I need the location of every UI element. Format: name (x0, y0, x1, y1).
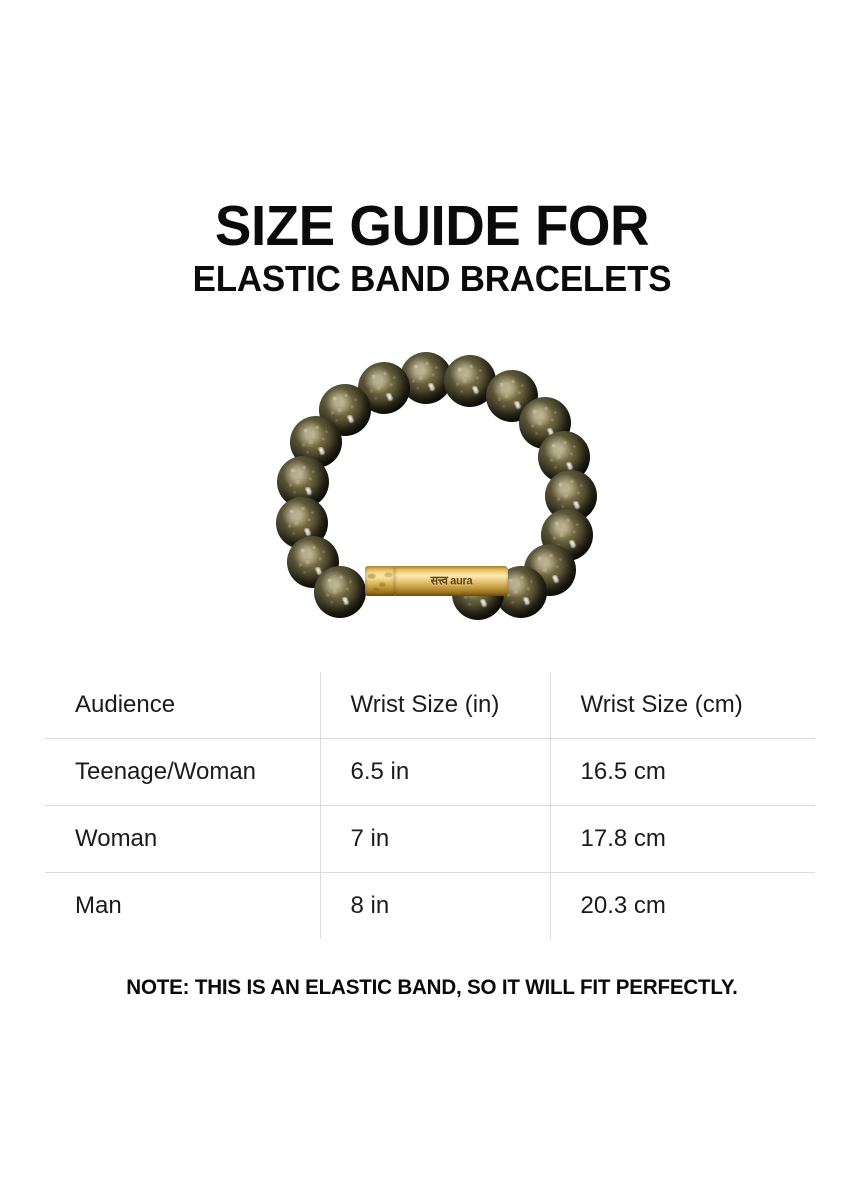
cell-audience: Man (45, 873, 320, 940)
bracelet-clasp-bar: सत्त्व aura (365, 566, 508, 596)
column-header-audience: Audience (45, 672, 320, 739)
note-text: NOTE: THIS IS AN ELASTIC BAND, SO IT WIL… (9, 975, 856, 1001)
cell-wrist-size-cm: 20.3 cm (550, 873, 815, 940)
bracelet-bead (314, 566, 366, 618)
cell-audience: Teenage/Woman (45, 739, 320, 806)
bracelet-bead-ring: सत्त्व aura (262, 352, 602, 638)
cell-wrist-size-in: 8 in (320, 873, 550, 940)
page-title-line-2: ELASTIC BAND BRACELETS (13, 258, 851, 300)
page-title-line-1: SIZE GUIDE FOR (17, 196, 846, 256)
table-header: Audience Wrist Size (in) Wrist Size (cm) (45, 672, 815, 739)
cell-wrist-size-cm: 16.5 cm (550, 739, 815, 806)
table-body: Teenage/Woman 6.5 in 16.5 cm Woman 7 in … (45, 739, 815, 940)
clasp-endcap-icon (365, 566, 395, 596)
table-row: Man 8 in 20.3 cm (45, 873, 815, 940)
cell-wrist-size-cm: 17.8 cm (550, 806, 815, 873)
table-row: Woman 7 in 17.8 cm (45, 806, 815, 873)
table-row: Teenage/Woman 6.5 in 16.5 cm (45, 739, 815, 806)
page-title: SIZE GUIDE FOR ELASTIC BAND BRACELETS (0, 196, 864, 300)
size-guide-table: Audience Wrist Size (in) Wrist Size (cm)… (45, 672, 815, 939)
product-image-bracelet: सत्त्व aura (262, 352, 602, 638)
column-header-wrist-size-in: Wrist Size (in) (320, 672, 550, 739)
cell-wrist-size-in: 7 in (320, 806, 550, 873)
column-header-wrist-size-cm: Wrist Size (cm) (550, 672, 815, 739)
clasp-body: सत्त्व aura (395, 566, 508, 596)
table-header-row: Audience Wrist Size (in) Wrist Size (cm) (45, 672, 815, 739)
clasp-brand-engraving: सत्त्व aura (431, 575, 473, 587)
cell-audience: Woman (45, 806, 320, 873)
cell-wrist-size-in: 6.5 in (320, 739, 550, 806)
